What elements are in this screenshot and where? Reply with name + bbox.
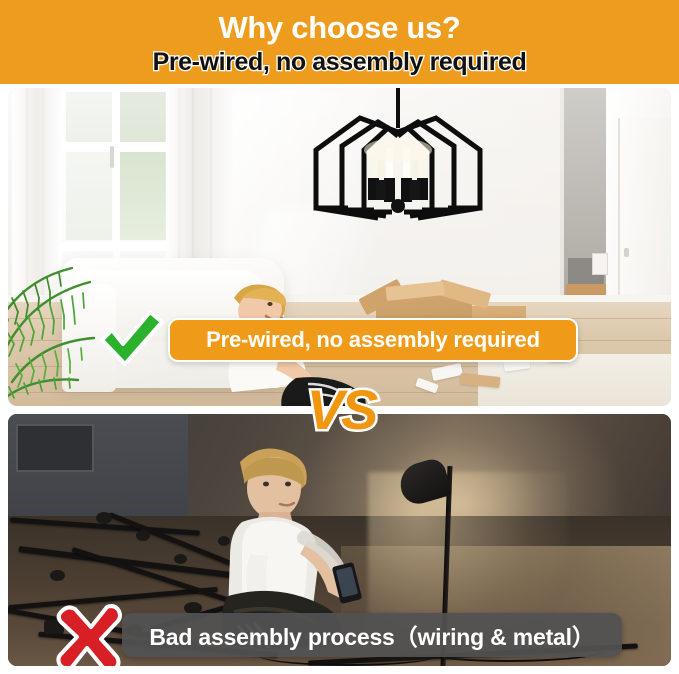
window-pane [66, 92, 112, 142]
page-title: Why choose us? [218, 10, 460, 46]
red-cross-icon [52, 601, 124, 666]
vs-badge: VS [298, 379, 384, 441]
header-banner: Why choose us? Pre-wired, no assembly re… [0, 0, 679, 84]
metal-part [96, 512, 112, 524]
wall-shelf [16, 424, 94, 472]
bad-label-chip: Bad assembly process（wiring & metal） [122, 613, 622, 657]
green-check-icon [96, 306, 166, 370]
door-panel [618, 118, 671, 323]
window-pane [120, 152, 166, 240]
metal-part [136, 530, 150, 541]
window-handle [110, 146, 114, 168]
why-choose-us-infographic: Why choose us? Pre-wired, no assembly re… [0, 0, 679, 674]
page-subtitle: Pre-wired, no assembly required [153, 47, 527, 77]
good-label-chip: Pre-wired, no assembly required [168, 318, 578, 362]
metal-part [50, 570, 65, 581]
vs-label: VS [307, 382, 376, 438]
window-pane [66, 152, 112, 240]
framed-picture [592, 253, 608, 275]
chandelier-product-image [308, 88, 488, 233]
metal-part [174, 554, 187, 564]
door-knob [624, 248, 629, 257]
window-mullion [60, 142, 175, 149]
window-pane [120, 92, 166, 142]
